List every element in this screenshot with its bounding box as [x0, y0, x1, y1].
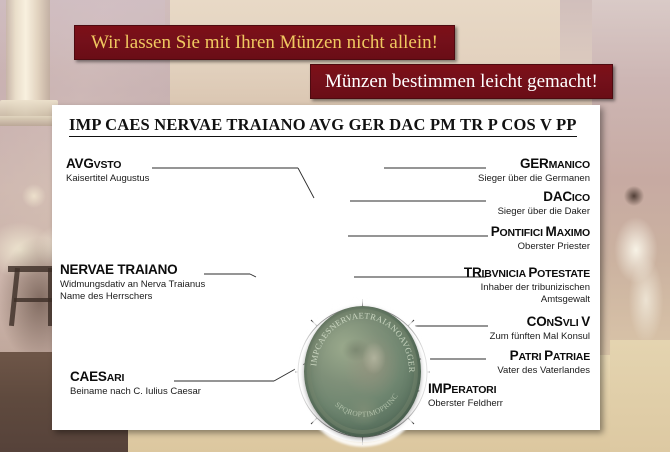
label-avgvsto-keyword: AVGVSTO	[66, 157, 149, 171]
label-germanico-keyword: GERMANICO	[478, 157, 590, 171]
label-nervae-traiano-desc: Widmungsdativ an Nerva Traianus Name des…	[60, 279, 205, 302]
label-nervae-traiano-desc-line1: Widmungsdativ an Nerva Traianus	[60, 279, 205, 291]
coin-obverse: IMPCAESNERVAETRAIANOAVGGERDACPMTRPCOSVPP…	[304, 306, 421, 437]
label-patri-patriae-desc: Vater des Vaterlandes	[497, 365, 590, 377]
label-dacico: DACICO Sieger über die Daker	[498, 190, 590, 218]
label-caesari-keyword: CAESARI	[70, 370, 201, 384]
label-patri-patriae-keyword: PATRI PATRIAE	[497, 349, 590, 363]
label-consvli-v-desc: Zum fünften Mal Konsul	[490, 331, 590, 343]
coin-illustration: IMPCAESNERVAETRAIANOAVGGERDACPMTRPCOSVPP…	[295, 297, 430, 447]
label-consvli-v-keyword: CONSVLI V	[490, 315, 590, 329]
label-caesari: CAESARI Beiname nach C. Iulius Caesar	[70, 370, 201, 398]
headline-banner-primary: Wir lassen Sie mit Ihren Münzen nicht al…	[74, 25, 455, 60]
label-dacico-keyword: DACICO	[498, 190, 590, 204]
label-tribvnicia-potestate-desc-line1: Inhaber der tribunizischen	[464, 282, 590, 294]
label-pontifici-maximo-keyword: PONTIFICI MAXIMO	[491, 225, 590, 239]
label-pontifici-maximo: PONTIFICI MAXIMO Oberster Priester	[491, 225, 590, 253]
label-imperatori: IMPERATORI Oberster Feldherr	[428, 382, 503, 410]
label-tribvnicia-potestate-keyword: TRIBVNICIA POTESTATE	[464, 266, 590, 280]
label-avgvsto-desc: Kaisertitel Augustus	[66, 173, 149, 185]
label-imperatori-keyword: IMPERATORI	[428, 382, 503, 396]
label-nervae-traiano-keyword: NERVAE TRAIANO	[60, 263, 205, 277]
label-tribvnicia-potestate: TRIBVNICIA POTESTATE Inhaber der tribuni…	[464, 266, 590, 305]
svg-text:IMPCAESNERVAETRAIANOAVGGERDACP: IMPCAESNERVAETRAIANOAVGGERDACPMTRPCOSVPP	[304, 306, 417, 373]
label-tribvnicia-potestate-desc-line2: Amtsgewalt	[464, 294, 590, 306]
label-pontifici-maximo-desc: Oberster Priester	[491, 241, 590, 253]
headline-banner-primary-text: Wir lassen Sie mit Ihren Münzen nicht al…	[91, 32, 438, 54]
label-caesari-desc: Beiname nach C. Iulius Caesar	[70, 386, 201, 398]
label-consvli-v: CONSVLI V Zum fünften Mal Konsul	[490, 315, 590, 343]
label-tribvnicia-potestate-desc: Inhaber der tribunizischen Amtsgewalt	[464, 282, 590, 305]
coin-legend-panel: IMP CAES NERVAE TRAIANO AVG GER DAC PM T…	[52, 105, 600, 430]
label-dacico-desc: Sieger über die Daker	[498, 206, 590, 218]
coin-legend-inscription: IMPCAESNERVAETRAIANOAVGGERDACPMTRPCOSVPP…	[304, 306, 421, 437]
label-nervae-traiano: NERVAE TRAIANO Widmungsdativ an Nerva Tr…	[60, 263, 205, 302]
svg-text:SPQROPTIMOPRINC: SPQROPTIMOPRINC	[333, 392, 400, 419]
screenshot-root: Wir lassen Sie mit Ihren Münzen nicht al…	[0, 0, 670, 452]
headline-banner-secondary-text: Münzen bestimmen leicht gemacht!	[325, 71, 598, 93]
label-nervae-traiano-desc-line2: Name des Herrschers	[60, 291, 205, 303]
label-germanico-desc: Sieger über die Germanen	[478, 173, 590, 185]
headline-banner-secondary: Münzen bestimmen leicht gemacht!	[310, 64, 613, 99]
label-imperatori-desc: Oberster Feldherr	[428, 398, 503, 410]
fresco-right	[592, 0, 670, 356]
label-germanico: GERMANICO Sieger über die Germanen	[478, 157, 590, 185]
label-avgvsto: AVGVSTO Kaisertitel Augustus	[66, 157, 149, 185]
label-patri-patriae: PATRI PATRIAE Vater des Vaterlandes	[497, 349, 590, 377]
